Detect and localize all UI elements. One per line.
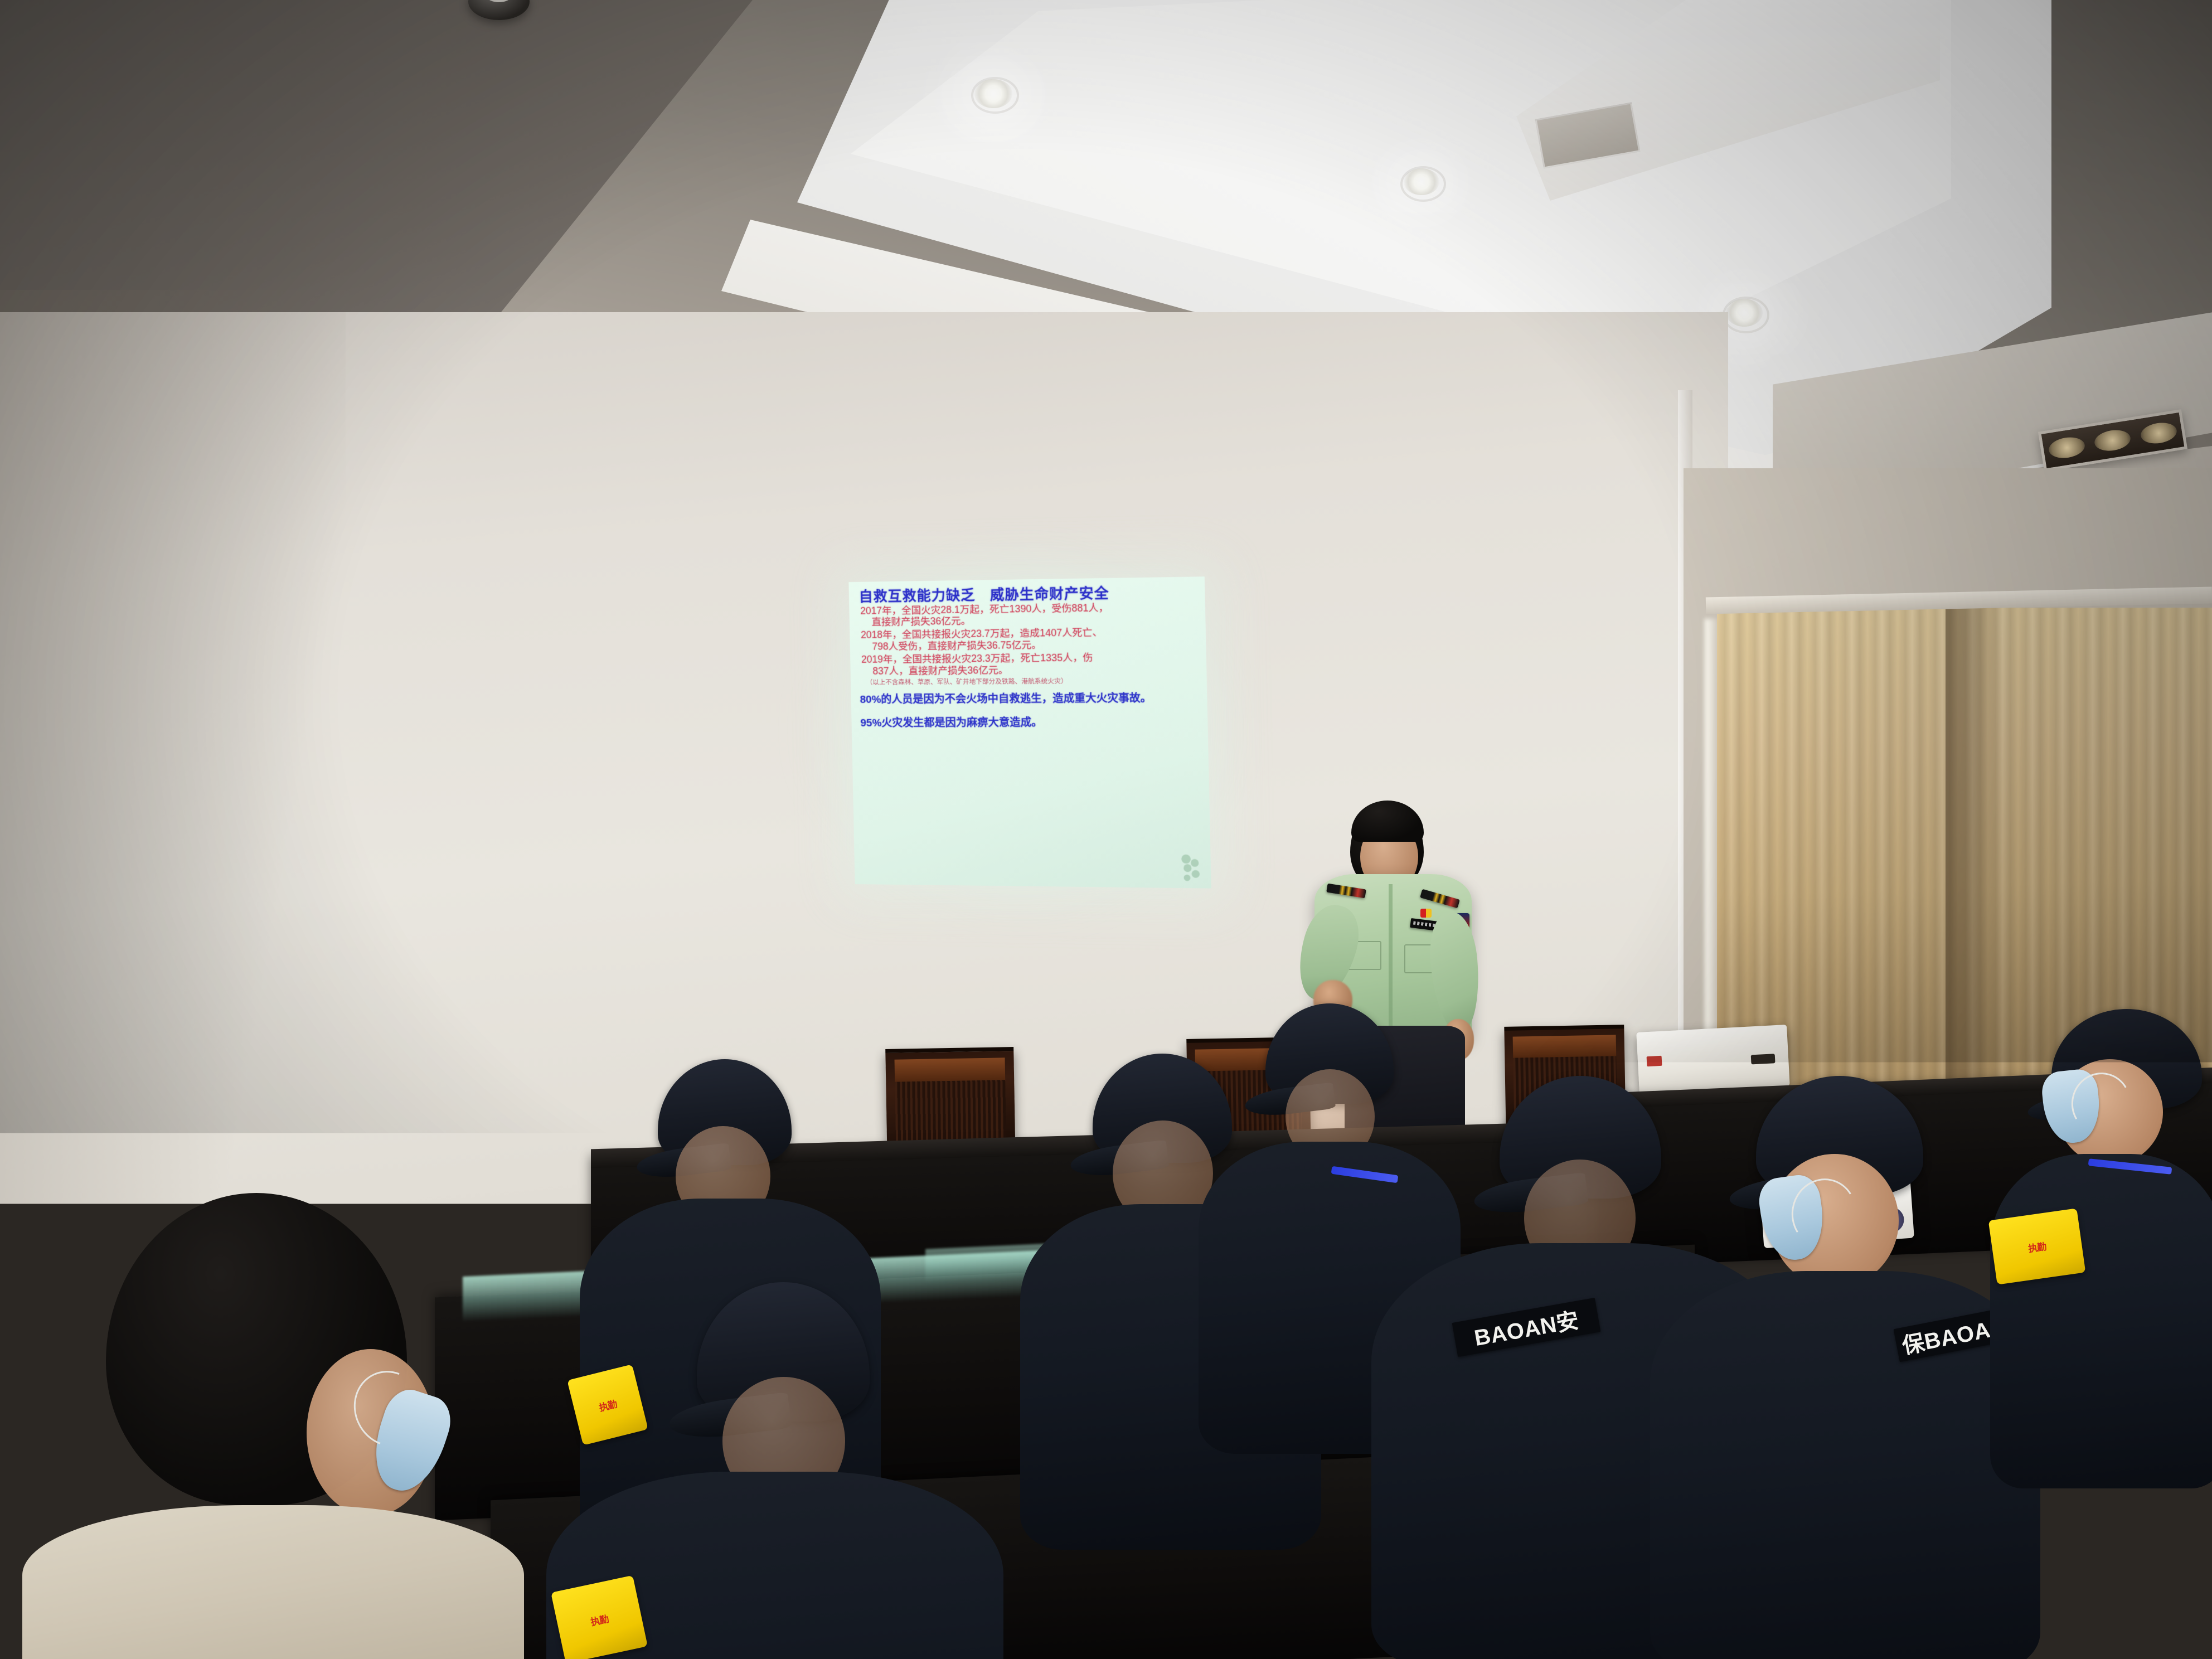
audience-member-front-left: 执勤	[591, 1282, 948, 1659]
audience-member-front-far-right: 保BAOAN安	[1828, 1199, 2212, 1659]
downlight-icon-1	[974, 79, 1012, 108]
presenter-chest-emblem	[1420, 909, 1432, 918]
case-latch	[1647, 1056, 1662, 1066]
slide-highlight-2: 95%火灾发生都是因为麻痹大意造成。	[860, 716, 1200, 730]
slide-bullet-3-line2: 837人，直接财产损失36亿元。	[872, 663, 1199, 677]
smoke-detector-lens	[482, 0, 516, 2]
meeting-room-photo: 自救互救能力缺乏威胁生命财产安全 2017年，全国火灾28.1万起，死亡1390…	[0, 0, 2212, 1659]
slide-corner-logo-icon	[1176, 852, 1204, 882]
foreground-attendee-shirt	[22, 1505, 524, 1659]
chair-top-highlight	[895, 1058, 1005, 1081]
slide-body: 2017年，全国火灾28.1万起，死亡1390人，受伤881人， 直接财产损失3…	[860, 600, 1199, 677]
presenter-hair	[1351, 801, 1424, 842]
slide-bullet-2: 2018年，全国共接报火灾23.7万起，造成1407人死亡、 798人受伤，直接…	[861, 626, 1198, 653]
chair-top-highlight	[1513, 1035, 1617, 1058]
spot-lamp-3	[2139, 420, 2178, 446]
slide-bullet-3: 2019年，全国共接报火灾23.3万起，死亡1335人，伤 837人，直接财产损…	[861, 651, 1199, 677]
slide-title-left: 自救互救能力缺乏	[859, 588, 976, 605]
spot-lamp-1	[2048, 435, 2087, 460]
foreground-attendee	[45, 1193, 502, 1659]
audience-member-bottom-center	[1199, 1355, 1656, 1659]
slide-bullet-3-line1: 2019年，全国共接报火灾23.3万起，死亡1335人，伤	[861, 652, 1093, 666]
slide-footnote: （以上不含森林、草原、军队、矿井地下部分及铁路、港航系统火灾）	[866, 677, 1199, 687]
spot-lamp-2	[2093, 428, 2132, 453]
downlight-icon-2	[1404, 168, 1439, 195]
case-handle	[1750, 1054, 1775, 1065]
slide-title-right: 威胁生命财产安全	[990, 585, 1109, 603]
slide-highlight-1: 80%的人员是因为不会火场中自救逃生，造成重大火灾事故。	[860, 692, 1199, 706]
slide-bullet-2-line1: 2018年，全国共接报火灾23.7万起，造成1407人死亡、	[861, 627, 1103, 641]
projected-slide: 自救互救能力缺乏威胁生命财产安全 2017年，全国火灾28.1万起，死亡1390…	[848, 576, 1211, 888]
audience-torso	[1795, 1382, 2212, 1659]
slide-bullet-1: 2017年，全国火灾28.1万起，死亡1390人，受伤881人， 直接财产损失3…	[860, 600, 1197, 628]
downlight-icon-3	[1726, 299, 1763, 327]
armband-label: 执勤	[589, 1611, 609, 1628]
